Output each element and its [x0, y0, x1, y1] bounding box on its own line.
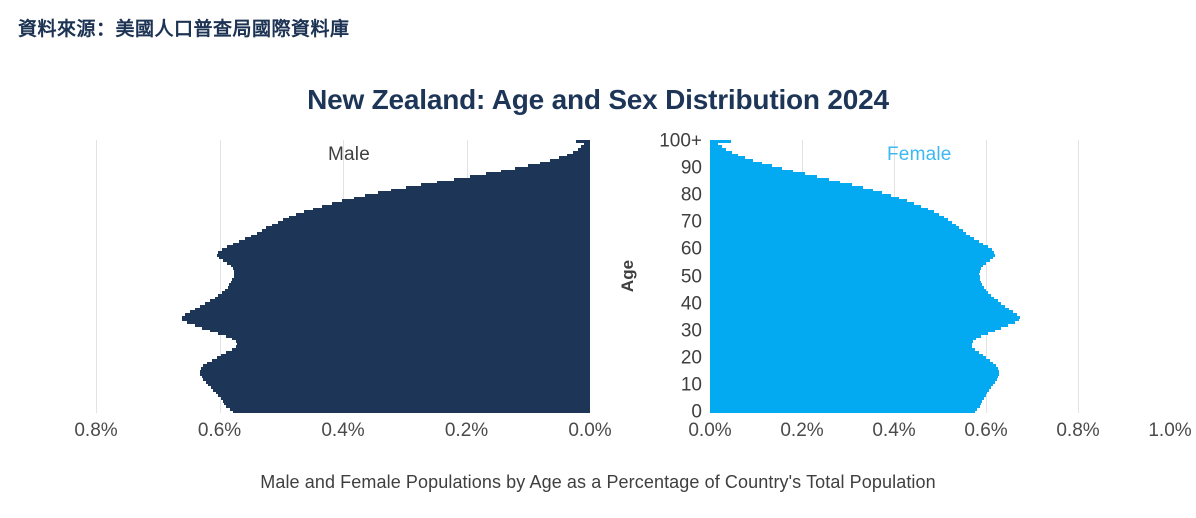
male-x-axis: 0.8%0.6%0.4%0.2%0.0% [96, 420, 590, 450]
female-age-bar [710, 313, 1017, 316]
male-gridline [96, 140, 97, 413]
male-age-bar [215, 297, 590, 300]
female-age-bar [710, 262, 986, 265]
female-age-bar [710, 162, 762, 165]
male-age-bar [225, 289, 590, 292]
female-age-bar [710, 367, 998, 370]
male-age-bar [218, 251, 590, 254]
female-age-bar [710, 308, 1009, 311]
male-age-bar [573, 151, 590, 154]
age-axis-tick: 90 [681, 159, 702, 178]
female-age-bar [710, 381, 995, 384]
source-note: 資料來源：美國人口普查局國際資料庫 [18, 14, 350, 41]
female-age-bar [710, 256, 993, 259]
female-age-bar [710, 370, 999, 373]
female-age-bar [710, 399, 982, 402]
male-age-bar [182, 318, 590, 321]
male-age-bar [581, 145, 590, 148]
female-age-bar [710, 245, 988, 248]
female-age-bar [710, 408, 977, 411]
male-age-bar [528, 164, 590, 167]
male-age-bar [211, 386, 590, 389]
male-age-bar [406, 186, 590, 189]
female-age-bar [710, 272, 979, 275]
female-age-bar [710, 156, 745, 159]
female-age-bar [710, 340, 973, 343]
age-axis-tick: 100+ [659, 132, 702, 151]
male-age-bar [540, 162, 590, 165]
female-gridline [1078, 140, 1079, 413]
female-age-bar [710, 151, 732, 154]
male-age-bar [584, 143, 590, 146]
female-age-bar [710, 148, 726, 151]
female-age-bar [710, 186, 863, 189]
female-age-bar [710, 305, 1005, 308]
male-age-bar [332, 202, 590, 205]
female-age-bar [710, 235, 970, 238]
male-age-bar [234, 275, 590, 278]
female-age-bar [710, 199, 907, 202]
male-age-bar [222, 291, 590, 294]
male-age-bar [567, 154, 590, 157]
female-age-bar [710, 167, 782, 170]
male-x-axis-tick: 0.2% [445, 420, 488, 442]
female-age-bar [710, 170, 793, 173]
female-age-bar [710, 299, 998, 302]
male-age-bar [203, 364, 590, 367]
female-age-bar [710, 375, 998, 378]
male-age-bar [187, 321, 590, 324]
female-x-axis-tick: 1.0% [1148, 420, 1191, 442]
male-age-bar [223, 259, 590, 262]
male-age-bar [232, 337, 590, 340]
male-age-bar [266, 226, 590, 229]
male-age-bar [201, 367, 590, 370]
male-x-axis-tick: 0.6% [198, 420, 241, 442]
female-age-bar [710, 389, 989, 392]
male-age-bar [454, 178, 590, 181]
male-panel: Male [96, 140, 590, 413]
female-age-bar [710, 291, 988, 294]
male-age-bar [365, 194, 590, 197]
male-age-bar [217, 356, 590, 359]
male-age-bar [231, 264, 590, 267]
age-axis-tick: 0 [691, 402, 702, 421]
male-plot [96, 140, 590, 413]
male-series-label: Male [328, 144, 370, 166]
female-age-bar [710, 310, 1013, 313]
male-age-bar [218, 332, 590, 335]
male-age-bar [322, 205, 590, 208]
male-age-bar [354, 197, 591, 200]
male-age-bar [232, 348, 590, 351]
male-age-bar [229, 283, 590, 286]
female-age-bar [710, 189, 873, 192]
female-age-bar [710, 329, 995, 332]
female-age-bar [710, 197, 899, 200]
male-age-bar [576, 140, 590, 143]
male-age-bar [236, 340, 590, 343]
female-age-bar [710, 243, 983, 246]
male-age-bar [210, 299, 590, 302]
female-x-axis: 0.0%0.2%0.4%0.6%0.8%1.0% [710, 420, 1170, 450]
male-age-bar [185, 313, 590, 316]
female-x-axis-tick: 0.2% [780, 420, 823, 442]
female-age-bar [710, 391, 987, 394]
male-age-bar [203, 378, 590, 381]
male-age-bar [231, 281, 590, 284]
age-axis-tick: 30 [681, 321, 702, 340]
female-age-bar [710, 275, 980, 278]
male-age-bar [391, 189, 590, 192]
female-age-bar [710, 154, 738, 157]
male-age-bar [190, 310, 590, 313]
age-axis-tick: 40 [681, 294, 702, 313]
male-age-bar [470, 175, 590, 178]
female-age-bar [710, 164, 772, 167]
male-age-bar [233, 243, 590, 246]
female-age-bar [710, 254, 995, 257]
female-age-bar [710, 316, 1020, 319]
female-age-bar [710, 297, 994, 300]
male-age-bar [234, 272, 590, 275]
female-age-bar [710, 281, 981, 284]
male-age-bar [283, 218, 590, 221]
female-age-bar [710, 356, 986, 359]
female-age-bar [710, 335, 981, 338]
male-age-bar [219, 256, 590, 259]
male-age-bar [234, 270, 590, 273]
female-age-bar [710, 181, 840, 184]
female-age-bar [710, 294, 991, 297]
female-age-bar [710, 208, 928, 211]
male-age-bar [182, 316, 590, 319]
male-age-bar [224, 402, 590, 405]
male-age-bar [208, 383, 590, 386]
male-age-bar [486, 172, 590, 175]
female-age-bar [710, 321, 1015, 324]
age-axis-tick: 80 [681, 186, 702, 205]
chart-area: Male Age 100+9080706050403020100 Female [0, 140, 1196, 420]
female-age-bar [710, 383, 993, 386]
male-age-bar [226, 335, 590, 338]
male-age-bar [200, 372, 590, 375]
male-age-bar [378, 191, 590, 194]
female-age-bar [710, 332, 988, 335]
female-age-bar [710, 183, 852, 186]
male-age-bar [313, 208, 590, 211]
female-age-bar [710, 240, 979, 243]
male-age-bar [200, 305, 590, 308]
female-age-bar [710, 359, 990, 362]
female-plot [710, 140, 1170, 413]
age-axis-tick: 50 [681, 267, 702, 286]
male-x-axis-tick: 0.0% [568, 420, 611, 442]
male-age-bar [236, 345, 590, 348]
female-age-bar [710, 378, 997, 381]
female-age-bar [710, 348, 975, 351]
male-age-bar [262, 229, 591, 232]
male-age-bar [218, 294, 590, 297]
female-x-axis-tick: 0.4% [872, 420, 915, 442]
male-age-bar [202, 327, 590, 330]
male-age-bar [233, 410, 590, 413]
female-age-bar [710, 143, 718, 146]
male-age-bar [195, 324, 590, 327]
female-age-bar [710, 405, 980, 408]
age-axis: Age 100+9080706050403020100 [628, 140, 706, 413]
female-age-bar [710, 229, 963, 232]
female-age-bar [710, 175, 817, 178]
female-age-bar [710, 216, 944, 219]
female-age-bar [710, 289, 986, 292]
female-age-bar [710, 372, 999, 375]
age-axis-tick: 10 [681, 375, 702, 394]
male-age-bar [206, 381, 590, 384]
female-series-label: Female [887, 144, 952, 166]
female-age-bar [710, 224, 956, 227]
male-age-bar [437, 181, 590, 184]
chart-title: New Zealand: Age and Sex Distribution 20… [0, 84, 1196, 116]
male-age-bar [226, 405, 590, 408]
male-age-bar [237, 343, 590, 346]
female-x-axis-tick: 0.0% [688, 420, 731, 442]
male-age-bar [227, 245, 590, 248]
male-age-bar [501, 170, 590, 173]
female-age-bar [710, 362, 993, 365]
female-age-bar [710, 237, 974, 240]
female-age-bar [710, 286, 984, 289]
male-age-bar [232, 278, 590, 281]
male-age-bar [207, 362, 590, 365]
male-age-bar [221, 354, 590, 357]
female-age-bar [710, 327, 1001, 330]
male-age-bar [217, 254, 590, 257]
male-age-bar [245, 237, 590, 240]
female-age-bar [710, 226, 959, 229]
female-age-bar [710, 194, 891, 197]
male-age-bar [205, 302, 590, 305]
male-age-bar [195, 308, 590, 311]
male-age-bar [515, 167, 590, 170]
male-age-bar [239, 240, 590, 243]
male-age-bar [251, 235, 590, 238]
male-age-bar [227, 262, 590, 265]
male-age-bar [228, 286, 590, 289]
male-age-bar [289, 216, 590, 219]
male-age-bar [578, 148, 590, 151]
age-axis-tick: 60 [681, 240, 702, 259]
male-age-bar [202, 375, 590, 378]
female-age-bar [710, 345, 972, 348]
female-x-axis-tick: 0.8% [1056, 420, 1099, 442]
female-age-bar [710, 210, 934, 213]
female-x-axis-tick: 0.6% [964, 420, 1007, 442]
female-age-bar [710, 221, 952, 224]
male-age-bar [200, 370, 590, 373]
female-age-bar [710, 267, 981, 270]
female-age-bar [710, 397, 984, 400]
male-age-bar [218, 394, 590, 397]
female-age-bar [710, 140, 731, 143]
female-age-bar [710, 178, 829, 181]
male-age-bar [223, 399, 590, 402]
female-age-bar [710, 318, 1019, 321]
female-age-bar [710, 205, 921, 208]
female-age-bar [710, 283, 982, 286]
female-age-bar [710, 232, 966, 235]
male-age-bar [257, 232, 590, 235]
female-age-bar [710, 248, 992, 251]
male-age-bar [421, 183, 590, 186]
female-age-bar [710, 278, 980, 281]
age-axis-tick: 70 [681, 213, 702, 232]
male-age-bar [222, 248, 590, 251]
age-axis-title: Age [618, 260, 638, 292]
male-age-bar [342, 199, 590, 202]
male-age-bar [304, 210, 590, 213]
male-age-bar [296, 213, 590, 216]
female-age-bar [710, 364, 996, 367]
female-age-bar [710, 218, 948, 221]
female-age-bar [710, 191, 882, 194]
female-age-bar [710, 172, 805, 175]
female-age-bar [710, 145, 722, 148]
female-age-bar [710, 337, 976, 340]
female-age-bar [710, 213, 939, 216]
male-age-bar [226, 351, 590, 354]
male-x-axis-tick: 0.4% [321, 420, 364, 442]
male-age-bar [278, 221, 590, 224]
male-age-bar [230, 408, 590, 411]
female-age-bar [710, 264, 983, 267]
female-age-bar [710, 302, 1001, 305]
male-age-bar [233, 267, 590, 270]
female-age-bar [710, 351, 979, 354]
female-age-bar [710, 402, 981, 405]
male-age-bar [212, 359, 590, 362]
female-panel: Female [710, 140, 1170, 413]
female-age-bar [710, 354, 983, 357]
female-age-bar [710, 202, 914, 205]
female-age-bar [710, 410, 975, 413]
male-age-bar [550, 159, 590, 162]
female-age-bar [710, 386, 991, 389]
male-age-bar [559, 156, 590, 159]
female-age-bar [710, 159, 753, 162]
male-x-axis-tick: 0.8% [74, 420, 117, 442]
age-axis-tick: 20 [681, 348, 702, 367]
male-age-bar [221, 397, 590, 400]
female-age-bar [710, 251, 994, 254]
female-age-bar [710, 324, 1008, 327]
male-age-bar [213, 389, 590, 392]
female-age-bar [710, 343, 972, 346]
male-age-bar [210, 329, 590, 332]
male-age-bar [272, 224, 590, 227]
female-age-bar [710, 394, 986, 397]
male-age-bar [216, 391, 590, 394]
female-age-bar [710, 259, 990, 262]
female-age-bar [710, 270, 980, 273]
chart-caption: Male and Female Populations by Age as a … [0, 472, 1196, 493]
